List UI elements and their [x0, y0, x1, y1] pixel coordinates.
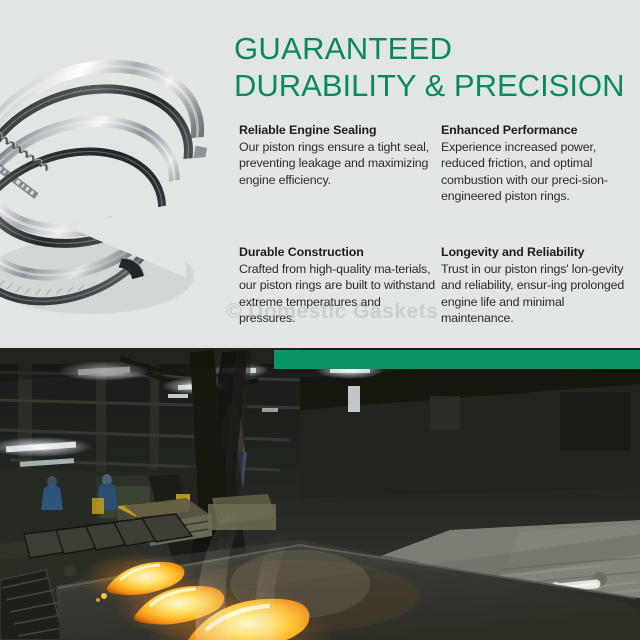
feature-longevity-and-reliability: Longevity and Reliability Trust in our p…	[441, 244, 639, 327]
foundry-forging-photo	[0, 348, 640, 640]
feature-enhanced-performance: Enhanced Performance Experience increase…	[441, 122, 639, 244]
feature-title: Reliable Engine Sealing	[239, 122, 435, 138]
feature-grid: Reliable Engine Sealing Our piston rings…	[239, 122, 639, 327]
page-title: GUARANTEED DURABILITY & PRECISION	[234, 30, 636, 104]
top-content-panel: GUARANTEED DURABILITY & PRECISION Reliab…	[0, 0, 640, 350]
feature-title: Enhanced Performance	[441, 122, 633, 138]
feature-body: Experience increased power, reduced fric…	[441, 139, 633, 205]
headline-line-1: GUARANTEED	[234, 30, 636, 67]
piston-rings-photo	[0, 8, 234, 338]
feature-title: Durable Construction	[239, 244, 435, 260]
feature-reliable-engine-sealing: Reliable Engine Sealing Our piston rings…	[239, 122, 441, 244]
headline-line-2: DURABILITY & PRECISION	[234, 67, 636, 104]
feature-body: Trust in our piston rings' lon-gevity an…	[441, 261, 633, 327]
feature-body: Crafted from high-quality ma-terials, ou…	[239, 261, 435, 327]
product-infographic: GUARANTEED DURABILITY & PRECISION Reliab…	[0, 0, 640, 640]
feature-body: Our piston rings ensure a tight seal, pr…	[239, 139, 435, 188]
feature-title: Longevity and Reliability	[441, 244, 633, 260]
green-accent-bar	[274, 350, 640, 369]
feature-durable-construction: Durable Construction Crafted from high-q…	[239, 244, 441, 327]
